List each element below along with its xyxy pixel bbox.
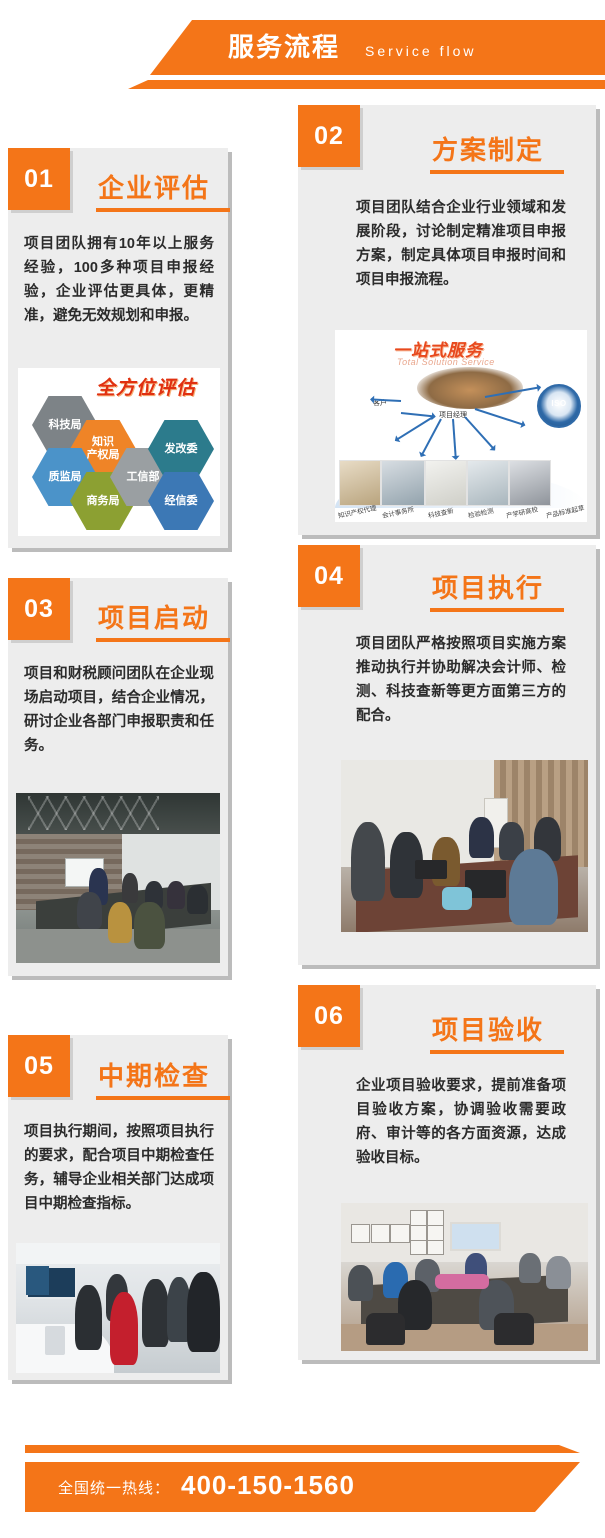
step-title-06: 项目验收 [432,1010,544,1047]
step-title-rule-02 [430,170,564,174]
step-title-05: 中期检查 [98,1056,210,1093]
page-title: 服务流程 [228,26,340,68]
step-number-badge-06: 06 [298,985,360,1047]
photo-person [167,881,185,908]
photo-person [519,1253,541,1283]
step-title-03: 项目启动 [98,598,210,635]
footer-hotline-number[interactable]: 400-150-1560 [181,1470,355,1501]
photo-projection-screen [450,1222,501,1251]
photo-person [351,822,386,901]
acceptance-meeting-photo [341,1203,588,1351]
step-description-06: 企业项目验收要求，提前准备项目验收方案，协调验收需要政府、审计等的各方面资源，达… [356,1074,566,1170]
hex-node-label: 质监局 [49,471,82,484]
step-title-rule-03 [96,638,230,642]
footer-hotline-label: 全国统一热线： [58,1477,170,1498]
step-number-badge-04: 04 [298,545,360,607]
step-number-badge-03: 03 [8,578,70,640]
photo-ceiling-pattern [28,796,159,830]
photo-person [134,902,165,950]
page-subtitle: Service flow [365,36,476,66]
step-description-02: 项目团队结合企业行业领域和发展阶段，讨论制定精准项目申报方案，制定具体项目申报时… [356,196,566,292]
collage-photo-testing [467,460,509,506]
photo-person [187,1272,220,1353]
photo-person [187,885,207,914]
hex-diagram: 全方位评估 科技局 知识 产权局 质监局 商务局 工信部 发改委 经信委 [18,368,220,536]
collage-team-photo [417,367,523,409]
collage-photo-accounting [381,460,425,506]
photo-chair [494,1313,534,1346]
service-flow-infographic: 服务流程 Service flow 01 企业评估 项目团队拥有10年以上服务经… [0,0,605,1538]
photo-person-red-coat [110,1292,139,1365]
collage-subtitle: Total Solution Service [397,357,495,367]
step-number-badge-02: 02 [298,105,360,167]
collage-photo-search [425,460,467,506]
hex-node-label: 经信委 [165,495,198,508]
hex-node-label: 商务局 [87,495,120,508]
photo-flowers [435,1274,489,1289]
step-description-03: 项目和财税顾问团队在企业现场启动项目，结合企业情况，研讨企业各部门申报职责和任务… [24,662,214,758]
header-orange-stripe [128,80,605,89]
photo-person [469,817,494,858]
hex-node-label: 工信部 [127,471,160,484]
photo-bag [442,887,472,909]
collage-arrow-3 [395,416,433,441]
step-number-badge-05: 05 [8,1035,70,1097]
hex-node-label: 发改委 [165,443,198,456]
step-description-05: 项目执行期间，按照项目执行的要求，配合项目中期检查任务，辅导企业相关部门达成项目… [24,1120,214,1216]
photo-display-screen [26,1266,48,1295]
showroom-visit-photo [16,1243,220,1373]
step-number-badge-01: 01 [8,148,70,210]
collage-arrow-6 [464,416,495,450]
photo-product-model [45,1326,65,1355]
photo-person [108,902,132,943]
step-title-02: 方案制定 [432,130,544,167]
photo-certificate-frame [427,1240,444,1255]
photo-laptop [415,860,447,879]
one-stop-service-collage: 一站式服务 Total Solution Service 客户 项目经理 知识产… [335,330,587,522]
footer-orange-stripe [25,1445,580,1453]
photo-chair [366,1313,406,1346]
photo-person [122,873,138,904]
collage-photo-ip [339,460,381,506]
page-header: 服务流程 Service flow [0,0,605,100]
hex-diagram-title: 全方位评估 [96,373,196,400]
step-description-01: 项目团队拥有10年以上服务经验，100多种项目申报经验，企业评估更具体，更精准，… [24,232,214,328]
photo-person [75,1285,102,1350]
step-title-rule-05 [96,1096,230,1100]
collage-arrow-4 [420,419,441,457]
step-title-rule-04 [430,608,564,612]
photo-person [509,849,558,925]
iso-seal-icon: ISO [537,384,581,428]
collage-arrow-5 [452,419,457,459]
photo-ceiling [16,1243,220,1264]
step-title-04: 项目执行 [432,568,544,605]
iso-seal-text: ISO [539,399,579,408]
photo-person [77,892,101,929]
photo-certificate-frame [371,1224,390,1244]
photo-certificate-frame [390,1224,409,1244]
photo-person [142,1279,169,1347]
hex-node-label: 科技局 [49,419,82,432]
step-title-rule-01 [96,208,230,212]
photo-certificate-frame [351,1224,370,1244]
collage-arrow-7 [475,408,525,426]
photo-certificate-frame [410,1225,427,1240]
step-description-04: 项目团队严格按照项目实施方案推动执行并协助解决会计师、检测、科技查新等更方面第三… [356,632,566,728]
photo-person [546,1256,571,1289]
photo-certificate-frame [410,1240,427,1255]
photo-certificate-frame [427,1210,444,1225]
photo-certificate-frame [427,1225,444,1240]
meeting-room-photo [16,793,220,963]
photo-certificate-frame [410,1210,427,1225]
photo-person [348,1265,373,1301]
hex-node-label: 知识 产权局 [87,436,120,462]
collage-photo-university [509,460,551,506]
step-title-01: 企业评估 [98,168,210,205]
working-session-photo [341,760,588,932]
step-title-rule-06 [430,1050,564,1054]
